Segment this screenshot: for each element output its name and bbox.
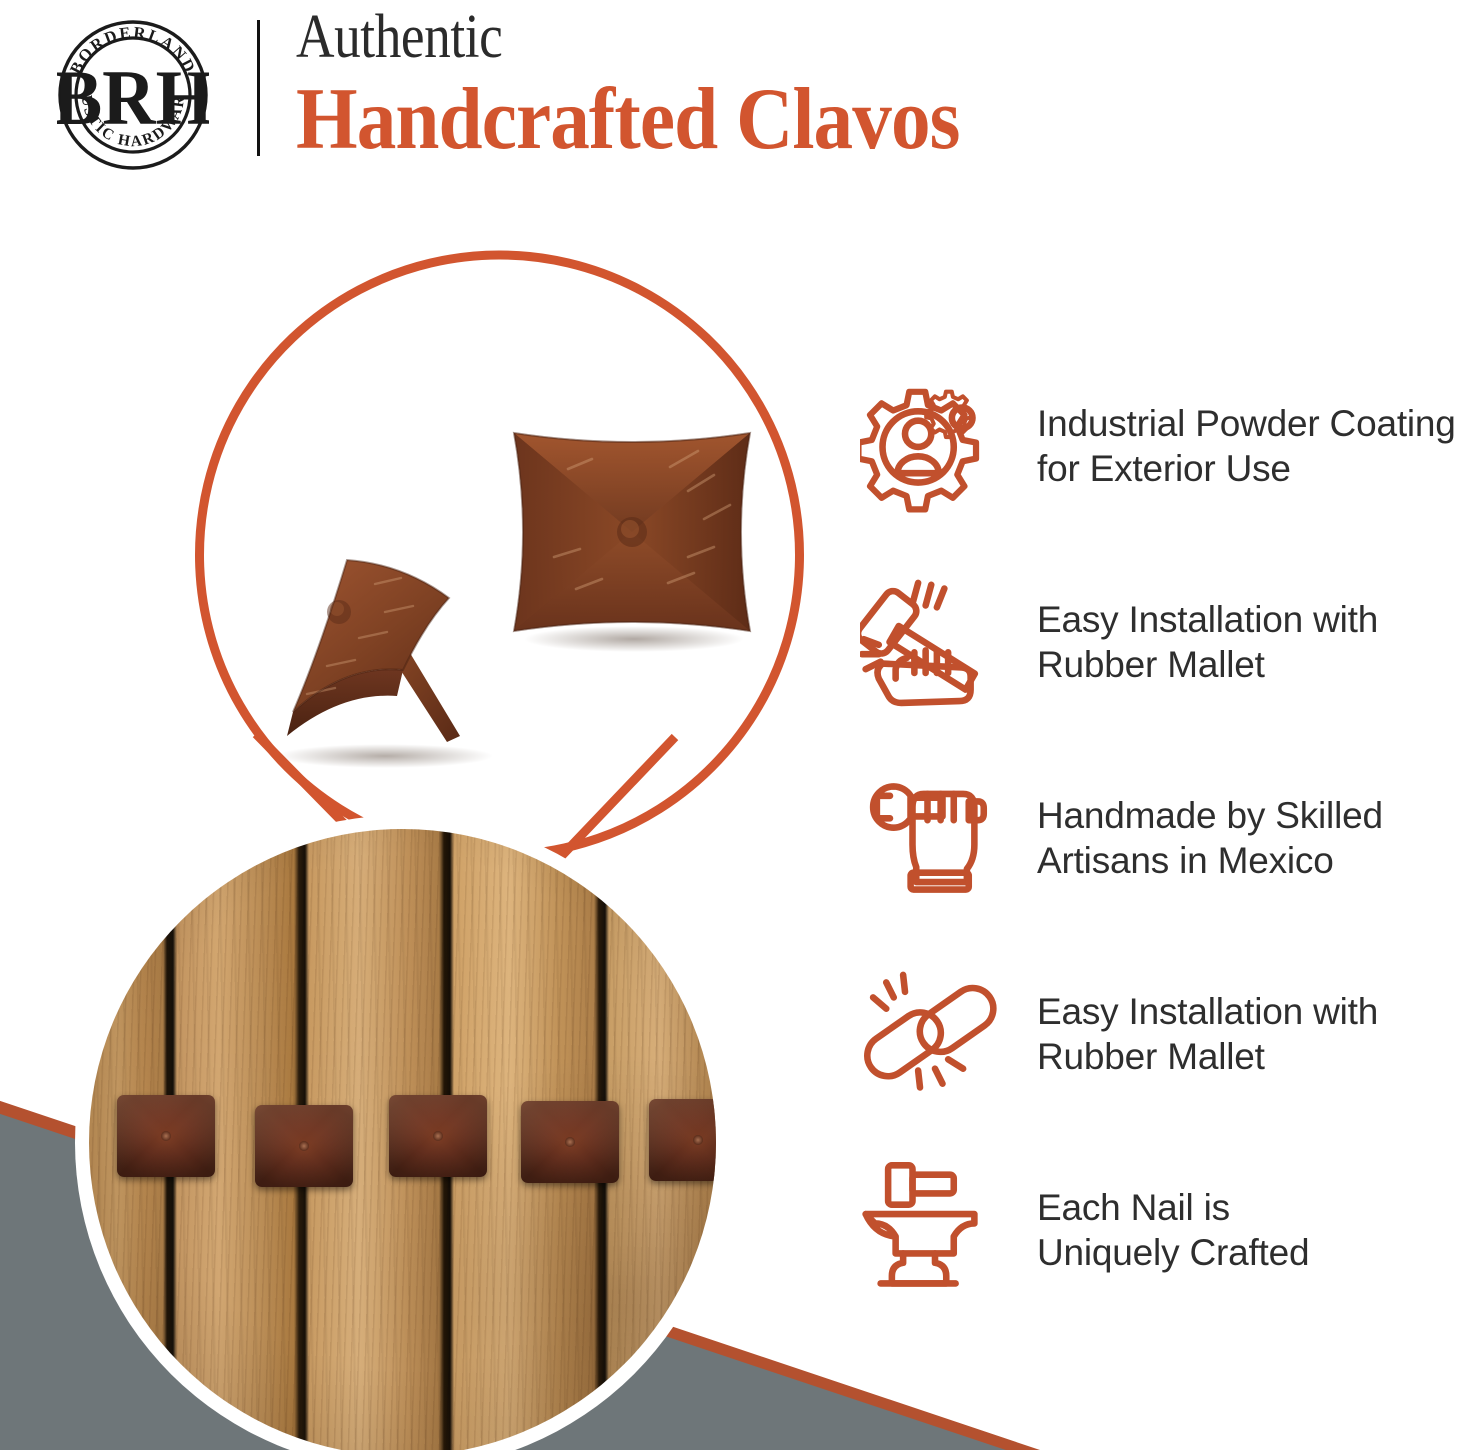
feature-text: Handmade by Skilled Artisans in Mexico <box>1015 793 1383 883</box>
feature-item: Each Nail is Uniquely Crafted <box>855 1154 1465 1306</box>
product-photo-group <box>200 255 800 855</box>
svg-text:BRH: BRH <box>57 55 209 141</box>
chain-links-sparkle-icon <box>855 959 1015 1109</box>
feature-line-1: Industrial Powder Coating <box>1037 401 1456 446</box>
feature-line-1: Easy Installation with <box>1037 597 1378 642</box>
feature-text: Easy Installation with Rubber Mallet <box>1015 597 1378 687</box>
clavo-angled-with-shank <box>235 520 515 770</box>
feature-item: Easy Installation with Rubber Mallet <box>855 566 1465 718</box>
product-visual-block <box>80 225 820 1425</box>
page-eyebrow: Authentic <box>296 4 930 70</box>
fist-holding-wrench-icon <box>855 763 1015 913</box>
wood-door-with-clavos <box>75 815 730 1450</box>
header-divider <box>257 20 260 156</box>
feature-text: Industrial Powder Coating for Exterior U… <box>1015 401 1456 491</box>
brand-logo-icon: BORDERLAND RUSTIC HARDWARE BRH <box>57 19 209 171</box>
feature-text: Each Nail is Uniquely Crafted <box>1015 1185 1309 1275</box>
header-titles: Authentic Handcrafted Clavos <box>296 4 1033 166</box>
infographic-canvas: BORDERLAND RUSTIC HARDWARE BRH Authentic… <box>0 0 1477 1450</box>
feature-line-2: Uniquely Crafted <box>1037 1230 1309 1275</box>
feature-item: Handmade by Skilled Artisans in Mexico <box>855 762 1465 914</box>
feature-list: Industrial Powder Coating for Exterior U… <box>855 370 1465 1306</box>
page-title: Handcrafted Clavos <box>296 74 960 166</box>
clavo-front-pillow-head <box>492 407 772 657</box>
hand-mallet-striking-icon <box>855 567 1015 717</box>
feature-line-1: Each Nail is <box>1037 1185 1309 1230</box>
feature-item: Easy Installation with Rubber Mallet <box>855 958 1465 1110</box>
feature-line-1: Handmade by Skilled <box>1037 793 1383 838</box>
feature-line-2: Rubber Mallet <box>1037 1034 1378 1079</box>
anvil-hammer-icon <box>855 1155 1015 1305</box>
wood-vignette <box>89 829 716 1450</box>
feature-line-1: Easy Installation with <box>1037 989 1378 1034</box>
page-header: BORDERLAND RUSTIC HARDWARE BRH Authentic… <box>0 0 1477 190</box>
feature-line-2: Artisans in Mexico <box>1037 838 1383 883</box>
wood-photo <box>89 829 716 1450</box>
feature-item: Industrial Powder Coating for Exterior U… <box>855 370 1465 522</box>
gears-person-icon <box>855 371 1015 521</box>
feature-text: Easy Installation with Rubber Mallet <box>1015 989 1378 1079</box>
feature-line-2: for Exterior Use <box>1037 446 1456 491</box>
feature-line-2: Rubber Mallet <box>1037 642 1378 687</box>
